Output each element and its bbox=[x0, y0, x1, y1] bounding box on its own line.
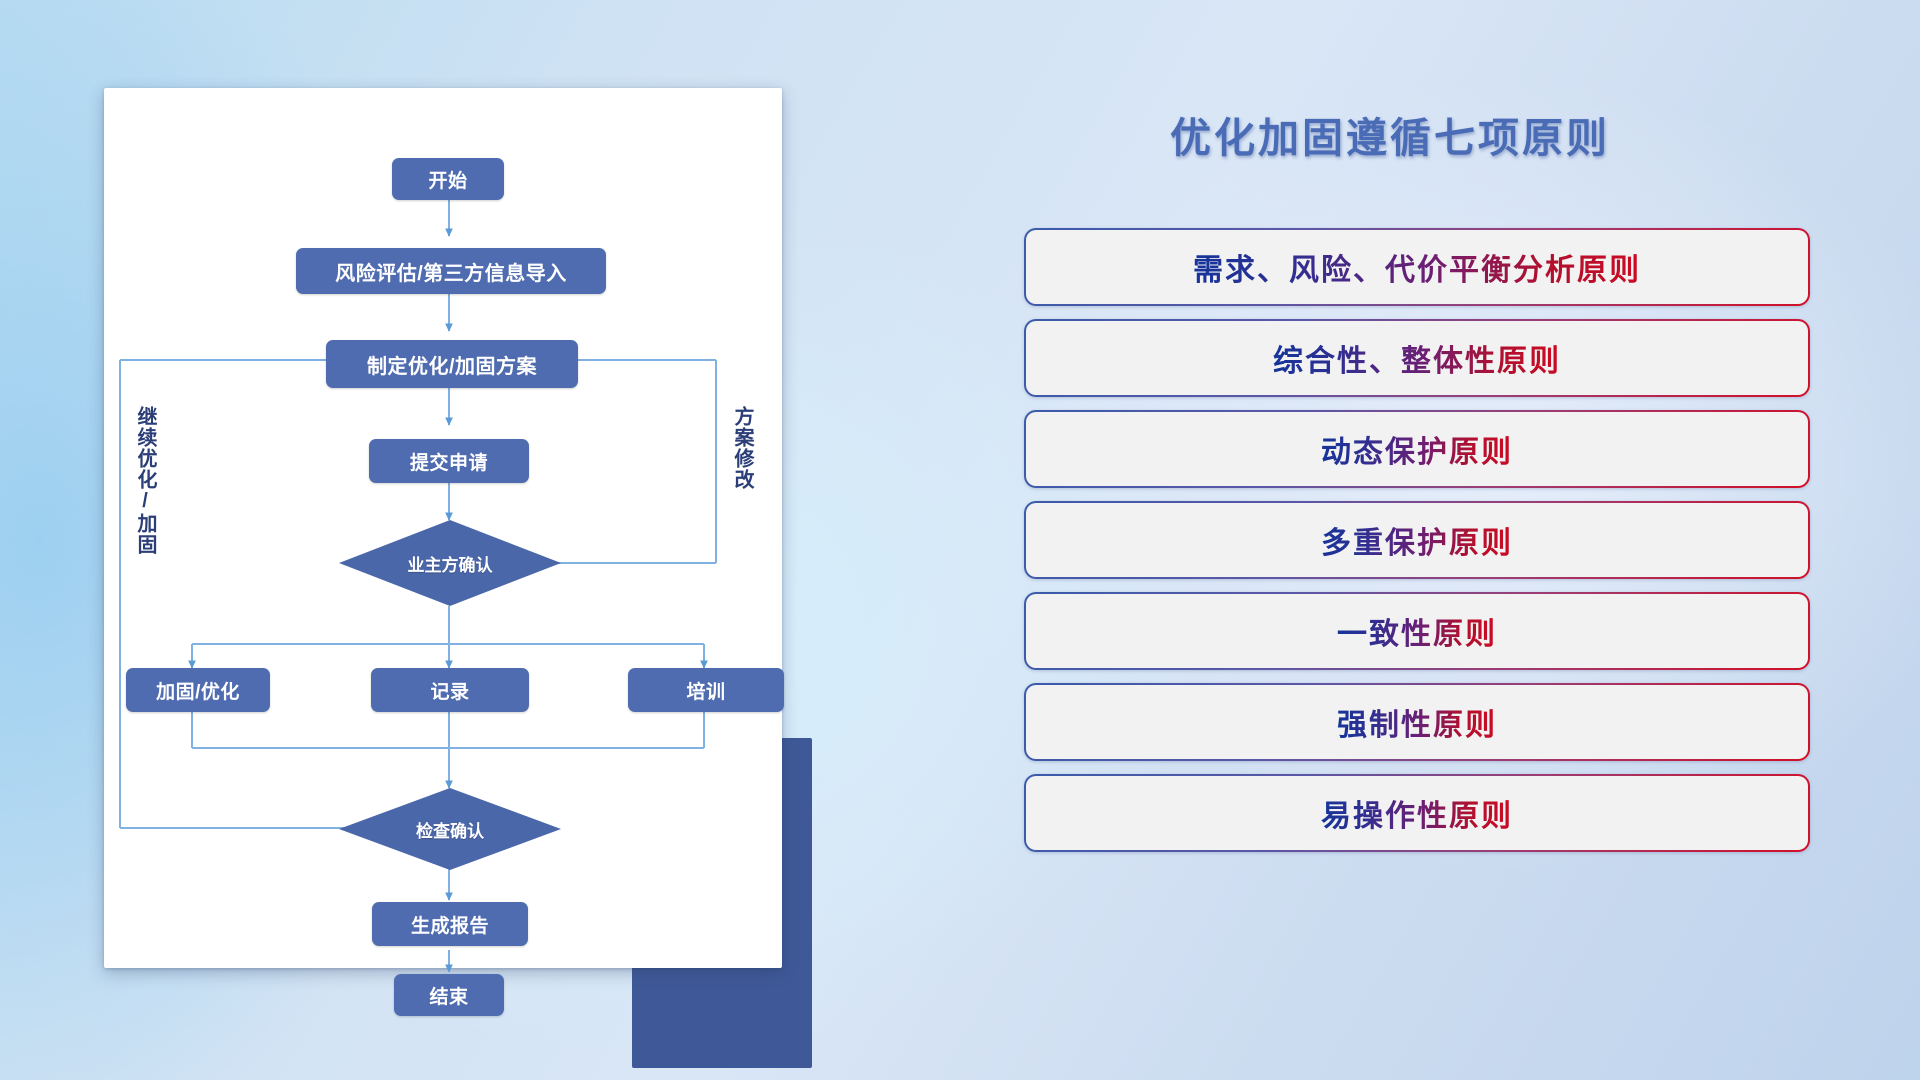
flowchart-diagram: 开始 风险评估/第三方信息导入 制定优化/加固方案 提交申请 业主方确认 加固/… bbox=[104, 88, 782, 968]
flowchart-panel: 开始 风险评估/第三方信息导入 制定优化/加固方案 提交申请 业主方确认 加固/… bbox=[104, 88, 784, 988]
flow-node-label: 结束 bbox=[429, 982, 468, 1009]
flowchart-card: 开始 风险评估/第三方信息导入 制定优化/加固方案 提交申请 业主方确认 加固/… bbox=[104, 88, 782, 968]
flow-node-label: 制定优化/加固方案 bbox=[367, 350, 537, 379]
flow-node-plan[interactable]: 制定优化/加固方案 bbox=[326, 340, 578, 388]
principle-label: 易操作性原则 bbox=[1321, 791, 1513, 835]
principle-card-body: 综合性、整体性原则 bbox=[1026, 321, 1808, 395]
principle-card-body: 需求、风险、代价平衡分析原则 bbox=[1026, 230, 1808, 304]
principle-card-body: 易操作性原则 bbox=[1026, 776, 1808, 850]
flow-node-end[interactable]: 结束 bbox=[394, 974, 504, 1016]
principle-label: 综合性、整体性原则 bbox=[1273, 336, 1561, 380]
principle-card-body: 强制性原则 bbox=[1026, 685, 1808, 759]
principle-label: 多重保护原则 bbox=[1321, 518, 1513, 562]
flow-node-label: 生成报告 bbox=[411, 911, 489, 938]
principle-label: 需求、风险、代价平衡分析原则 bbox=[1193, 245, 1641, 289]
principle-card[interactable]: 需求、风险、代价平衡分析原则 bbox=[1024, 228, 1810, 306]
flow-node-generate-report[interactable]: 生成报告 bbox=[372, 902, 528, 946]
flow-node-label: 风险评估/第三方信息导入 bbox=[335, 257, 567, 286]
flow-node-label: 业主方确认 bbox=[408, 551, 493, 576]
principle-card[interactable]: 强制性原则 bbox=[1024, 683, 1810, 761]
principle-label: 动态保护原则 bbox=[1321, 427, 1513, 471]
principle-card[interactable]: 一致性原则 bbox=[1024, 592, 1810, 670]
principle-card-body: 动态保护原则 bbox=[1026, 412, 1808, 486]
flow-node-label: 记录 bbox=[430, 677, 469, 704]
flow-node-start[interactable]: 开始 bbox=[392, 158, 504, 200]
slide-canvas: 开始 风险评估/第三方信息导入 制定优化/加固方案 提交申请 业主方确认 加固/… bbox=[0, 0, 1920, 1080]
flow-node-training[interactable]: 培训 bbox=[628, 668, 784, 712]
flow-node-risk-assessment[interactable]: 风险评估/第三方信息导入 bbox=[296, 248, 606, 294]
principles-list: 需求、风险、代价平衡分析原则 综合性、整体性原则 动态保护原则 多重保护原则 一… bbox=[1024, 228, 1810, 865]
flow-node-label: 开始 bbox=[428, 166, 467, 193]
flow-node-record[interactable]: 记录 bbox=[371, 668, 529, 712]
principle-card[interactable]: 动态保护原则 bbox=[1024, 410, 1810, 488]
flow-node-label: 提交申请 bbox=[410, 448, 488, 475]
flow-node-label: 培训 bbox=[686, 677, 725, 704]
flow-node-submit-application[interactable]: 提交申请 bbox=[369, 439, 529, 483]
principle-card-body: 一致性原则 bbox=[1026, 594, 1808, 668]
flow-node-label: 加固/优化 bbox=[156, 677, 240, 704]
principle-label: 一致性原则 bbox=[1337, 609, 1497, 653]
principle-card[interactable]: 多重保护原则 bbox=[1024, 501, 1810, 579]
flow-edge-label-continue-optimize: 继续优化/加固 bbox=[134, 406, 155, 555]
principle-label: 强制性原则 bbox=[1337, 700, 1497, 744]
panel-title: 优化加固遵循七项原则 bbox=[1020, 104, 1760, 164]
flow-edge-label-plan-revision: 方案修改 bbox=[731, 406, 752, 490]
flow-node-label: 检查确认 bbox=[416, 817, 484, 842]
principle-card[interactable]: 易操作性原则 bbox=[1024, 774, 1810, 852]
flow-node-reinforce[interactable]: 加固/优化 bbox=[126, 668, 270, 712]
principle-card-body: 多重保护原则 bbox=[1026, 503, 1808, 577]
principle-card[interactable]: 综合性、整体性原则 bbox=[1024, 319, 1810, 397]
